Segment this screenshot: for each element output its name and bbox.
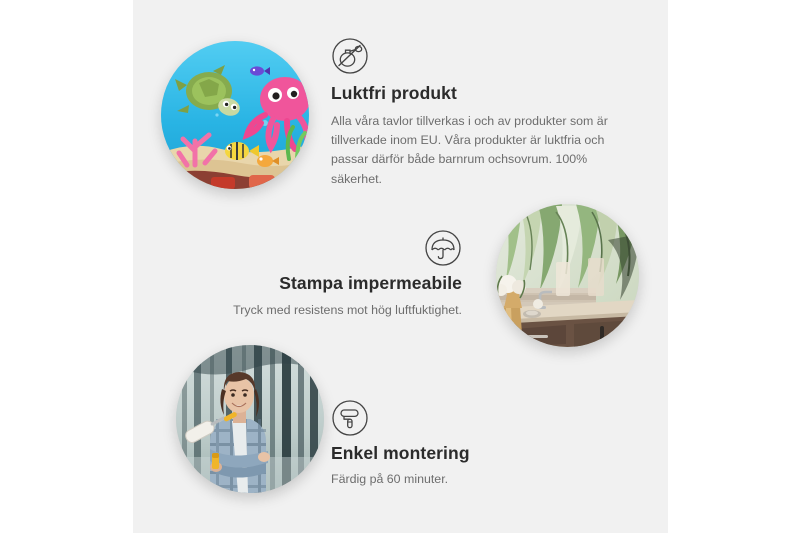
feature-body: Färdig på 60 minuter. xyxy=(331,470,611,489)
feature-title: Enkel montering xyxy=(331,443,611,465)
umbrella-icon xyxy=(424,229,462,267)
feature-title: Luktfri produkt xyxy=(331,83,631,105)
infographic-canvas: Luktfri produkt Alla våra tavlor tillver… xyxy=(0,0,800,533)
no-odour-icon xyxy=(331,37,369,75)
feature-block-odourless: Luktfri produkt Alla våra tavlor tillver… xyxy=(331,37,631,189)
paint-roller-icon xyxy=(331,399,369,437)
painter-photo xyxy=(176,345,324,493)
product-image-bathroom[interactable] xyxy=(496,204,639,347)
feature-title: Stampa impermeabile xyxy=(162,273,462,295)
feature-block-easy-assembly: Enkel montering Färdig på 60 minuter. xyxy=(331,399,611,489)
product-image-underwater[interactable] xyxy=(161,41,309,189)
feature-body: Alla våra tavlor tillverkas i och av pro… xyxy=(331,112,616,189)
bathroom-photo xyxy=(496,204,639,347)
product-image-painter[interactable] xyxy=(176,345,324,493)
feature-body: Tryck med resistens mot hög luftfuktighe… xyxy=(162,301,462,320)
underwater-illustration xyxy=(161,41,309,189)
feature-block-waterproof: Stampa impermeabile Tryck med resistens … xyxy=(162,229,462,320)
